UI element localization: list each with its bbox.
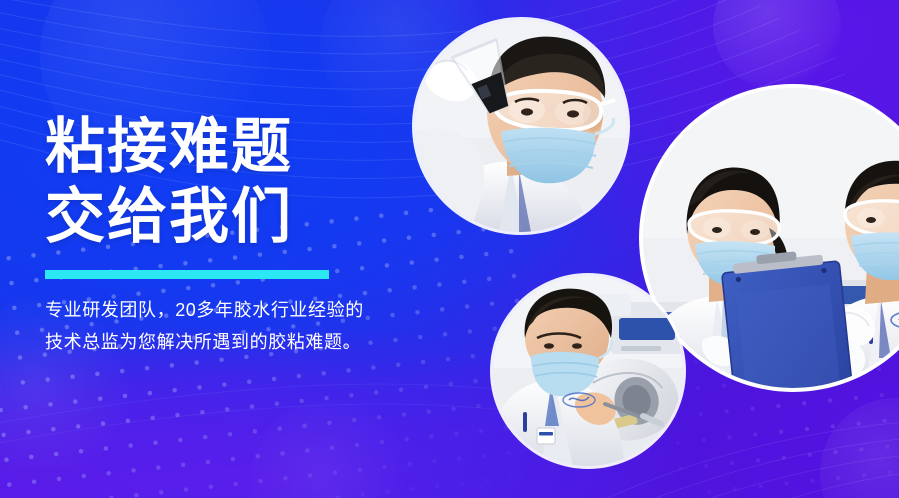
photo-technician-applying-glue [493,276,683,466]
text-column: 粘接难题 交给我们 专业研发团队，20多年胶水行业经验的 技术总监为您解决所遇到… [45,112,425,358]
subtitle-line-1: 专业研发团队，20多年胶水行业经验的 [45,294,425,326]
subtitle-block: 专业研发团队，20多年胶水行业经验的 技术总监为您解决所遇到的胶粘难题。 [45,294,425,358]
headline-line-2: 交给我们 [45,182,425,252]
headline-underline-accent [45,270,329,279]
photo-scientist-with-beaker [415,20,627,232]
promo-banner: 粘接难题 交给我们 专业研发团队，20多年胶水行业经验的 技术总监为您解决所遇到… [0,0,899,498]
subtitle-line-2: 技术总监为您解决所遇到的胶粘难题。 [45,326,425,358]
headline-line-1: 粘接难题 [45,112,425,182]
